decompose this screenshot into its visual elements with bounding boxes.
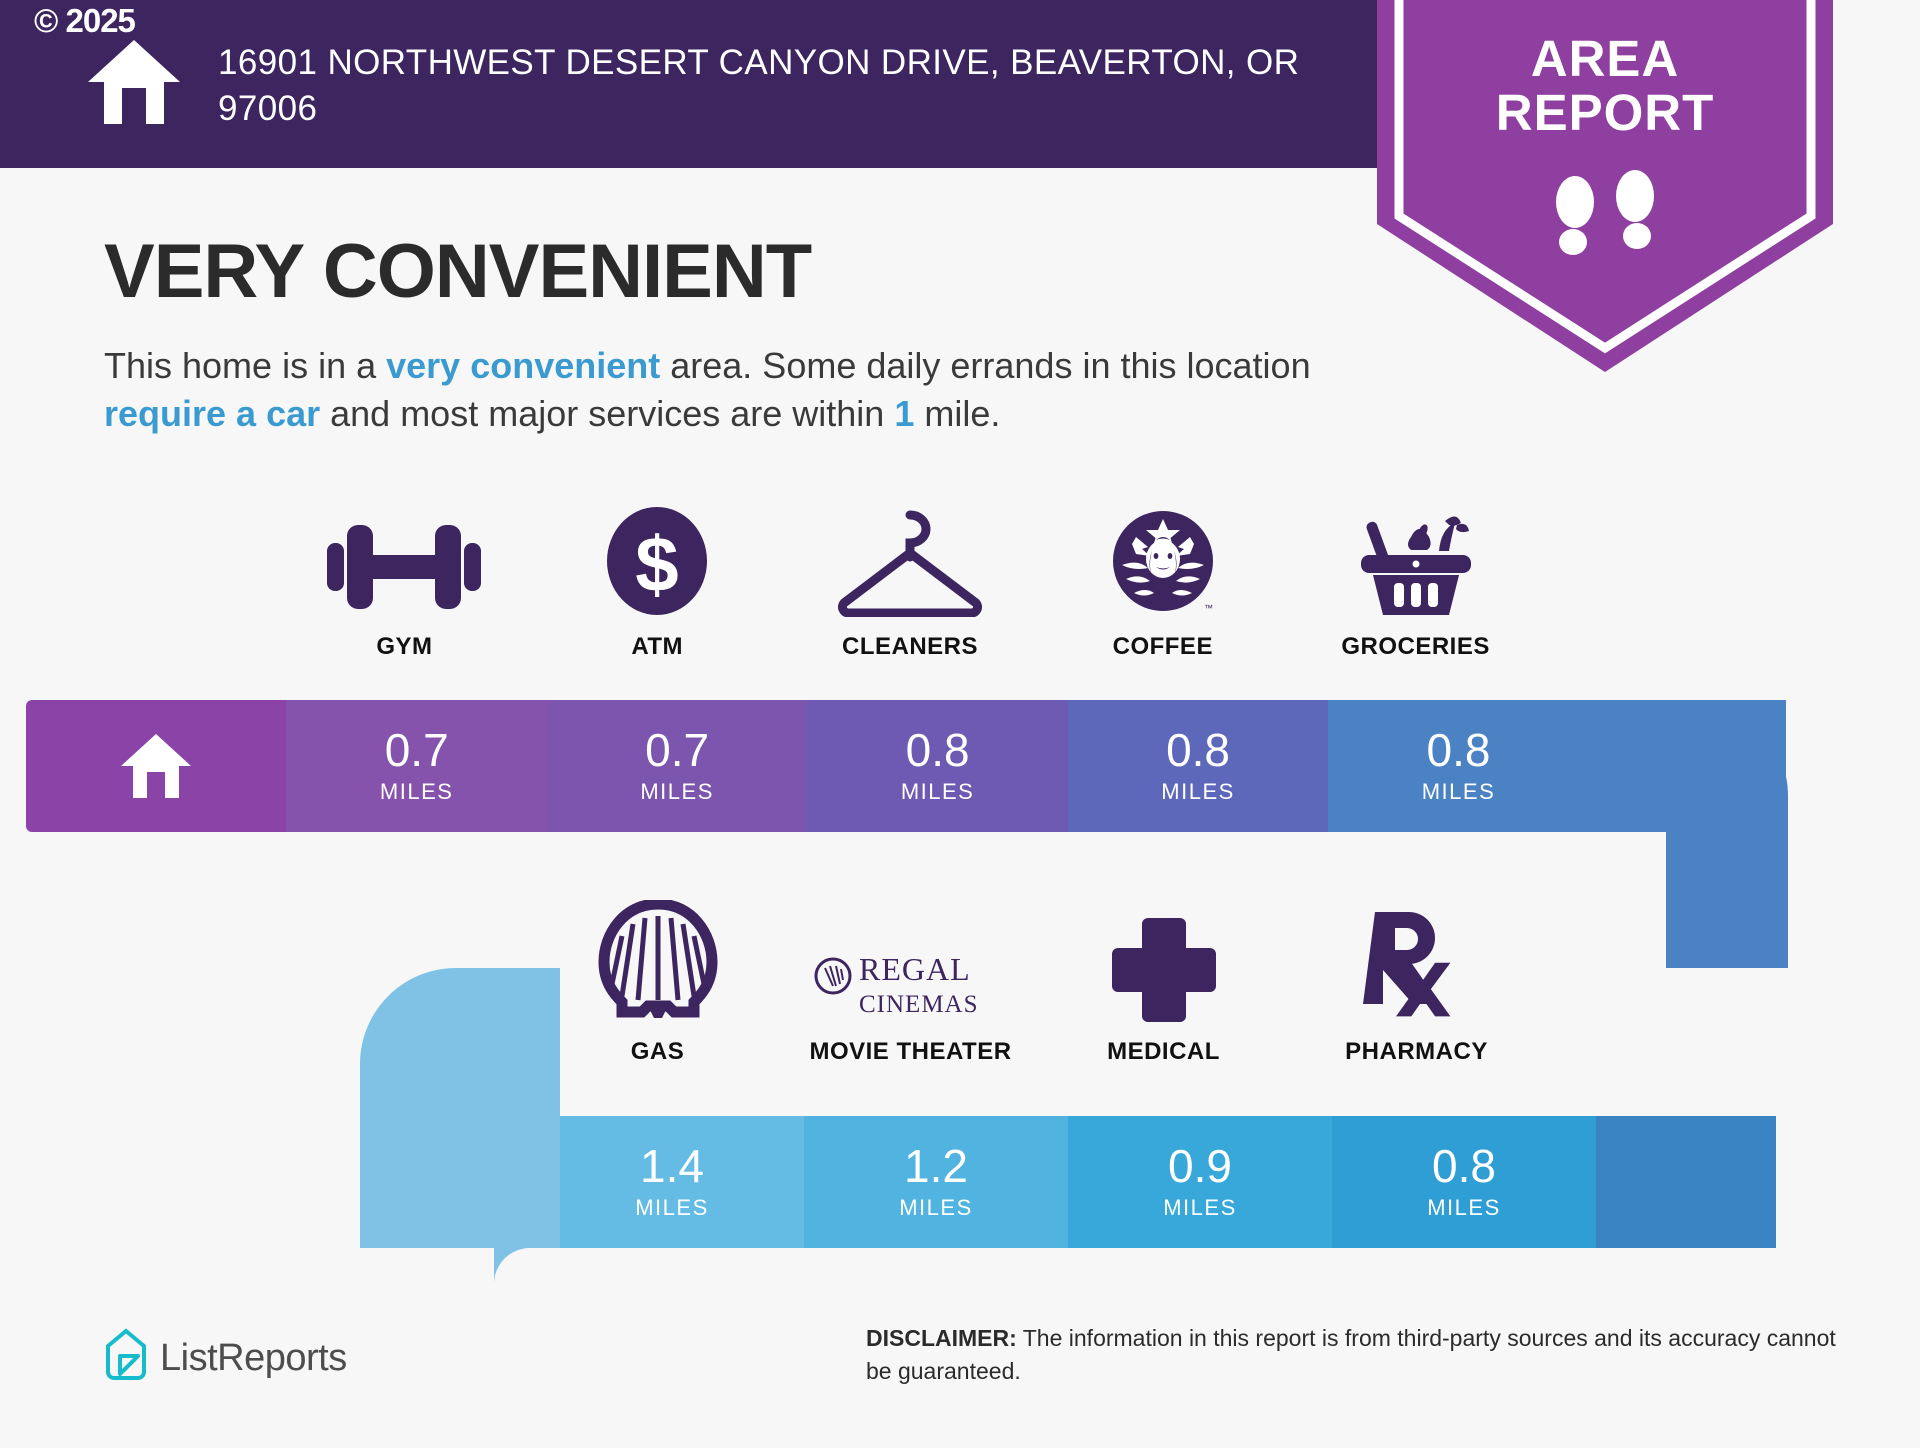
clothes-hanger-icon — [830, 505, 990, 617]
badge-text: AREA REPORT — [1377, 32, 1833, 140]
rx-icon — [1363, 910, 1471, 1022]
distance-value: 0.8 — [1427, 727, 1491, 773]
amenity-gym: GYM — [278, 505, 531, 661]
dumbbell-icon — [319, 505, 489, 617]
listreports-wordmark: ListReports — [160, 1337, 347, 1380]
house-icon — [86, 38, 182, 126]
highlight-miles: 1 — [894, 393, 914, 434]
distance-value: 0.7 — [385, 727, 449, 773]
distance-unit: MILES — [899, 1195, 973, 1221]
distance-cell-medical: 0.9 MILES — [1068, 1116, 1332, 1248]
badge-line-1: AREA — [1377, 32, 1833, 86]
area-report-badge: AREA REPORT — [1377, 0, 1833, 372]
distance-value: 1.2 — [904, 1143, 968, 1189]
distance-cell-movie-theater: 1.2 MILES — [804, 1116, 1068, 1248]
distance-value: 0.8 — [906, 727, 970, 773]
distance-value: 0.9 — [1168, 1143, 1232, 1189]
amenity-cleaners: CLEANERS — [784, 505, 1037, 661]
grocery-basket-icon — [1353, 505, 1479, 617]
amenity-label: CLEANERS — [842, 633, 978, 661]
amenity-movie-theater: REGAL CINEMAS MOVIE THEATER — [784, 910, 1037, 1066]
amenity-coffee: ™ COFFEE — [1036, 505, 1289, 661]
distance-unit: MILES — [1427, 1195, 1501, 1221]
amenity-label: MOVIE THEATER — [809, 1038, 1011, 1066]
distance-value: 0.8 — [1432, 1143, 1496, 1189]
distance-cell-cleaners: 0.8 MILES — [807, 700, 1067, 832]
house-icon — [119, 732, 193, 800]
amenity-pharmacy: PHARMACY — [1290, 910, 1543, 1066]
distance-value: 0.7 — [645, 727, 709, 773]
svg-text:™: ™ — [1204, 603, 1213, 613]
amenity-groceries: GROCERIES — [1289, 505, 1542, 661]
amenity-gas: GAS — [531, 910, 784, 1066]
disclaimer-label: DISCLAIMER: — [866, 1325, 1017, 1351]
dollar-coin-icon: $ — [603, 505, 711, 617]
amenity-medical: MEDICAL — [1037, 910, 1290, 1066]
distance-unit: MILES — [1163, 1195, 1237, 1221]
distance-unit: MILES — [1161, 779, 1235, 805]
distance-unit: MILES — [640, 779, 714, 805]
listreports-pen-icon — [104, 1328, 148, 1389]
medical-cross-icon — [1112, 910, 1216, 1022]
property-address: 16901 NORTHWEST DESERT CANYON DRIVE, BEA… — [218, 40, 1338, 132]
distance-unit: MILES — [380, 779, 454, 805]
amenity-atm: $ ATM — [531, 505, 784, 661]
highlight-require-a-car: require a car — [104, 393, 320, 434]
amenity-label: GYM — [376, 633, 432, 661]
badge-line-2: REPORT — [1377, 86, 1833, 140]
regal-cinemas-icon: REGAL CINEMAS — [811, 910, 1011, 1022]
amenity-label: MEDICAL — [1107, 1038, 1220, 1066]
distance-bar-row-1: 0.7 MILES 0.7 MILES 0.8 MILES 0.8 MILES … — [26, 700, 1786, 832]
distance-value: 1.4 — [640, 1143, 704, 1189]
amenity-label: PHARMACY — [1345, 1038, 1488, 1066]
summary-paragraph: This home is in a very convenient area. … — [104, 342, 1374, 438]
distance-cell-gym: 0.7 MILES — [286, 700, 546, 832]
svg-text:$: $ — [635, 520, 678, 608]
shell-gas-icon — [598, 910, 718, 1022]
starbucks-icon: ™ — [1108, 505, 1218, 617]
disclaimer: DISCLAIMER: The information in this repo… — [866, 1322, 1856, 1387]
distance-bar-corner-bottom-left — [360, 968, 560, 1248]
amenity-icon-row-1: GYM $ ATM CLEANERS — [278, 505, 1542, 661]
distance-cell-atm: 0.7 MILES — [547, 700, 807, 832]
distance-bar-corner-mask — [1532, 700, 1788, 968]
amenity-icon-row-2: GAS REGAL CINEMAS MOVIE THEATER MEDICAL — [531, 910, 1543, 1066]
distance-cell-coffee: 0.8 MILES — [1068, 700, 1328, 832]
listreports-logo[interactable]: ListReports — [104, 1328, 347, 1389]
distance-bar-row-2: 1.4 MILES 1.2 MILES 0.9 MILES 0.8 MILES — [360, 1116, 1788, 1248]
highlight-very-convenient: very convenient — [386, 345, 660, 386]
distance-cell-gas: 1.4 MILES — [540, 1116, 804, 1248]
page-title: VERY CONVENIENT — [104, 228, 811, 315]
amenity-label: ATM — [631, 633, 683, 661]
amenity-label: GROCERIES — [1341, 633, 1490, 661]
amenity-label: GAS — [631, 1038, 685, 1066]
svg-text:REGAL: REGAL — [859, 951, 971, 987]
paragraph-text-3: and most major services are within — [320, 393, 894, 434]
distance-unit: MILES — [1422, 779, 1496, 805]
distance-cell-pharmacy: 0.8 MILES — [1332, 1116, 1596, 1248]
copyright-notice: © 2025 — [34, 2, 135, 40]
distance-unit: MILES — [635, 1195, 709, 1221]
paragraph-text-4: mile. — [914, 393, 1000, 434]
home-marker-cell — [26, 700, 286, 832]
paragraph-text-1: This home is in a — [104, 345, 386, 386]
distance-unit: MILES — [901, 779, 975, 805]
svg-text:CINEMAS: CINEMAS — [859, 991, 979, 1018]
paragraph-text-2: area. Some daily errands in this locatio… — [660, 345, 1310, 386]
amenity-label: COFFEE — [1113, 633, 1213, 661]
distance-bar-tail — [1596, 1116, 1776, 1248]
distance-value: 0.8 — [1166, 727, 1230, 773]
